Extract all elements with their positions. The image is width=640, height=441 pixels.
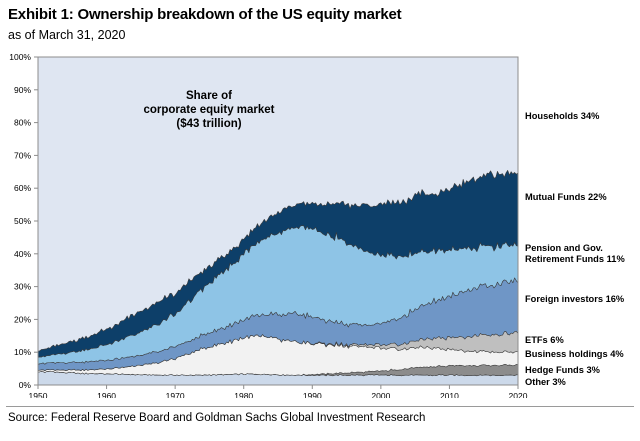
page-title: Exhibit 1: Ownership breakdown of the US… — [8, 6, 401, 23]
series-label-households: Households 34% — [525, 111, 600, 121]
x-tick-label: 1960 — [97, 391, 116, 398]
annotation-line-1: Share of — [186, 90, 232, 102]
y-tick-label: 100% — [9, 52, 31, 62]
series-label-foreign-investors: Foreign investors 16% — [525, 294, 625, 304]
y-tick-label: 40% — [14, 249, 31, 259]
footer-divider — [6, 406, 634, 407]
y-tick-label: 30% — [14, 282, 31, 292]
y-tick-label: 50% — [14, 216, 31, 226]
series-label-pension-and-gov-retirement-funds: Pension and Gov. — [525, 243, 603, 253]
y-tick-label: 0% — [19, 380, 32, 390]
x-tick-label: 2020 — [509, 391, 528, 398]
series-labels: Households 34%Mutual Funds 22%Pension an… — [525, 111, 625, 387]
y-tick-label: 60% — [14, 183, 31, 193]
x-tick-label: 1970 — [166, 391, 185, 398]
series-label-other: Other 3% — [525, 377, 567, 387]
x-tick-label: 2000 — [371, 391, 390, 398]
y-tick-label: 80% — [14, 118, 31, 128]
source-note: Source: Federal Reserve Board and Goldma… — [8, 412, 425, 424]
y-tick-label: 90% — [14, 85, 31, 95]
area-bands — [38, 57, 518, 385]
x-tick-label: 1980 — [234, 391, 253, 398]
series-label-mutual-funds: Mutual Funds 22% — [525, 192, 607, 202]
series-label-hedge-funds: Hedge Funds 3% — [525, 365, 601, 375]
x-tick-label: 2010 — [440, 391, 459, 398]
series-label-pension-and-gov-retirement-funds: Retirement Funds 11% — [525, 254, 625, 264]
x-tick-label: 1990 — [303, 391, 322, 398]
series-label-etfs: ETFs 6% — [525, 335, 564, 345]
y-tick-label: 20% — [14, 314, 31, 324]
page-subtitle: as of March 31, 2020 — [8, 28, 125, 42]
series-label-business-holdings: Business holdings 4% — [525, 349, 624, 359]
y-tick-label: 10% — [14, 347, 31, 357]
stacked-area-chart: 0%10%20%30%40%50%60%70%80%90%100%1950196… — [0, 46, 640, 398]
x-tick-label: 1950 — [29, 391, 48, 398]
annotation-line-3: ($43 trillion) — [176, 118, 241, 130]
annotation-line-2: corporate equity market — [143, 104, 274, 116]
chart-container: 0%10%20%30%40%50%60%70%80%90%100%1950196… — [0, 46, 640, 398]
y-tick-label: 70% — [14, 150, 31, 160]
